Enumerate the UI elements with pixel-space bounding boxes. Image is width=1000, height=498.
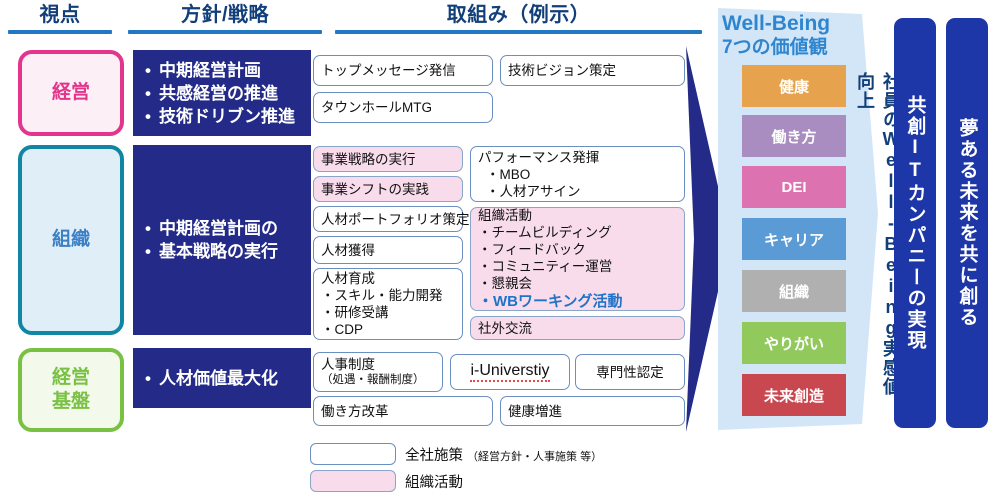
legend-label-text: 全社施策 (405, 448, 463, 464)
legend-swatch-org-activity (310, 470, 396, 492)
initiative-box-tech-vision[interactable]: 技術ビジョン策定 (500, 55, 685, 86)
initiative-box-business-shift[interactable]: 事業シフトの実践 (313, 176, 463, 202)
legend-swatch-company-policy (310, 443, 396, 465)
initiative-title: 技術ビジョン策定 (508, 62, 677, 79)
wellbeing-value-label: キャリア (764, 229, 824, 250)
strategy-item: 共感経営の推進 (159, 82, 295, 105)
initiative-sub-item: ・コミュニティー運営 (478, 258, 677, 275)
initiative-title: i-Universtiy (470, 362, 549, 382)
strategy-list-management: 中期経営計画 共感経営の推進 技術ドリブン推進 (143, 59, 295, 128)
strategy-item: 中期経営計画の (159, 217, 278, 240)
initiative-sub-item: ・フィードバック (478, 241, 677, 258)
initiative-title: 事業戦略の実行 (321, 151, 455, 168)
wellbeing-value-label: やりがい (764, 333, 824, 354)
strategy-box-management[interactable]: 中期経営計画 共感経営の推進 技術ドリブン推進 (133, 50, 311, 136)
initiative-box-talent-development[interactable]: 人材育成 ・スキル・能力開発 ・研修受講 ・CDP (313, 268, 463, 340)
initiative-sub-item: ・研修受講 (321, 304, 455, 321)
strategy-box-foundation[interactable]: 人材価値最大化 (133, 348, 311, 408)
initiative-sub-item: ・人材アサイン (478, 183, 677, 200)
strategy-item: 技術ドリブン推進 (159, 105, 295, 128)
initiative-title: 人材育成 (321, 270, 455, 287)
banner-label: 共創ITカンパニーの実現 (902, 95, 929, 351)
column-header-policy: 方針/戦略 (128, 2, 322, 28)
wellbeing-value-dei[interactable]: DEI (742, 166, 846, 208)
initiative-title: 社外交流 (478, 320, 677, 337)
strategy-list-foundation: 人材価値最大化 (143, 367, 278, 390)
initiative-box-external-exchange[interactable]: 社外交流 (470, 316, 685, 340)
wellbeing-value-label: 健康 (779, 76, 809, 97)
initiative-title: 事業シフトの実践 (321, 181, 455, 198)
column-rule-initiatives (335, 30, 702, 34)
wellbeing-value-career[interactable]: キャリア (742, 218, 846, 260)
perspective-label-organization: 組織 (52, 228, 90, 252)
wellbeing-value-label: 未来創造 (764, 385, 824, 406)
column-header-policy-label: 方針/戦略 (128, 2, 322, 28)
wellbeing-value-label: 働き方 (771, 126, 816, 147)
initiative-box-business-strategy[interactable]: 事業戦略の実行 (313, 146, 463, 172)
banner-label: 夢ある未来を共に創る (954, 118, 981, 328)
banner-cocreation-it-company[interactable]: 共創ITカンパニーの実現 (894, 18, 936, 428)
initiative-title: タウンホールMTG (321, 99, 485, 116)
initiative-sub-item: ・MBO (478, 166, 677, 183)
initiative-box-townhall[interactable]: タウンホールMTG (313, 92, 493, 123)
initiative-sub-item: ・CDP (321, 321, 455, 338)
legend-label-org-activity: 組織活動 (405, 471, 463, 492)
initiative-sub-item: ・チームビルディング (478, 224, 677, 241)
initiative-title: 専門性認定 (596, 364, 664, 381)
initiative-title: トップメッセージ発信 (321, 62, 485, 79)
column-header-perspective: 視点 (8, 2, 112, 28)
perspective-label-foundation-line1: 経営 (52, 367, 90, 388)
initiative-box-talent-portfolio[interactable]: 人材ポートフォリオ策定 (313, 206, 463, 232)
initiative-subtitle: （処遇・報酬制度） (321, 373, 435, 388)
initiative-box-work-style-reform[interactable]: 働き方改革 (313, 396, 493, 426)
wellbeing-value-fulfillment[interactable]: やりがい (742, 322, 846, 364)
initiative-sub-item: ・懇親会 (478, 275, 677, 292)
legend-label-note: （経営方針・人事施策 等） (467, 451, 602, 463)
legend-label-company-policy: 全社施策 （経営方針・人事施策 等） (405, 444, 602, 465)
wellbeing-value-workstyle[interactable]: 働き方 (742, 115, 846, 157)
initiative-box-org-activity[interactable]: 組織活動 ・チームビルディング ・フィードバック ・コミュニティー運営 ・懇親会… (470, 207, 685, 311)
initiative-sub-item-highlight: ・WBワーキング活動 (478, 292, 677, 311)
initiative-title: 健康増進 (508, 403, 677, 420)
perspective-label-management: 経営 (52, 81, 90, 105)
strategy-box-organization[interactable]: 中期経営計画の 基本戦略の実行 (133, 145, 311, 335)
wellbeing-title: Well-Being 7つの価値観 (722, 12, 852, 59)
wellbeing-value-health[interactable]: 健康 (742, 65, 846, 107)
initiative-box-performance[interactable]: パフォーマンス発揮 ・MBO ・人材アサイン (470, 146, 685, 202)
strategy-item-cont: 基本戦略の実行 (159, 240, 278, 263)
initiative-box-expertise-certification[interactable]: 専門性認定 (575, 354, 685, 390)
column-header-initiatives: 取組み（例示） (335, 2, 702, 28)
wellbeing-value-future-creation[interactable]: 未来創造 (742, 374, 846, 416)
wellbeing-value-organization[interactable]: 組織 (742, 270, 846, 312)
initiative-title: 働き方改革 (321, 403, 485, 420)
perspective-label-foundation-line2: 基盤 (52, 391, 90, 412)
initiative-title: 人材ポートフォリオ策定 (321, 211, 455, 228)
initiative-title: 組織活動 (478, 207, 677, 224)
perspective-box-management[interactable]: 経営 (18, 50, 124, 136)
wellbeing-value-label: 組織 (779, 281, 809, 302)
perspective-box-organization[interactable]: 組織 (18, 145, 124, 335)
banner-dream-future[interactable]: 夢ある未来を共に創る (946, 18, 988, 428)
initiative-title: 人事制度 (321, 356, 435, 373)
column-rule-perspective (8, 30, 112, 34)
column-header-perspective-label: 視点 (8, 2, 112, 28)
diagram-canvas: 視点 方針/戦略 取組み（例示） 経営 組織 経営 基盤 中期経営計画 共感経営… (0, 0, 1000, 498)
initiative-box-i-university[interactable]: i-Universtiy (450, 354, 570, 390)
strategy-item: 中期経営計画 (159, 59, 295, 82)
legend-label-text: 組織活動 (405, 475, 463, 491)
initiative-box-talent-acquisition[interactable]: 人材獲得 (313, 236, 463, 264)
strategy-item: 人材価値最大化 (159, 367, 278, 390)
strategy-list-organization: 中期経営計画の 基本戦略の実行 (143, 217, 278, 263)
initiative-title: パフォーマンス発揮 (478, 149, 677, 166)
initiative-sub-item: ・スキル・能力開発 (321, 287, 455, 304)
column-rule-policy (128, 30, 322, 34)
wellbeing-value-label: DEI (781, 179, 806, 196)
initiative-box-health-promotion[interactable]: 健康増進 (500, 396, 685, 426)
perspective-box-foundation[interactable]: 経営 基盤 (18, 348, 124, 432)
initiative-box-hr-system[interactable]: 人事制度 （処遇・報酬制度） (313, 352, 443, 392)
initiative-box-top-message[interactable]: トップメッセージ発信 (313, 55, 493, 86)
perspective-label-foundation: 経営 基盤 (52, 366, 90, 414)
strategy-item-cont-text: 基本戦略の実行 (159, 242, 278, 261)
initiative-title: 人材獲得 (321, 242, 455, 259)
wellbeing-title-line2: 7つの価値観 (722, 36, 852, 59)
wellbeing-title-line1: Well-Being (722, 12, 852, 36)
column-header-initiatives-label: 取組み（例示） (335, 2, 702, 28)
